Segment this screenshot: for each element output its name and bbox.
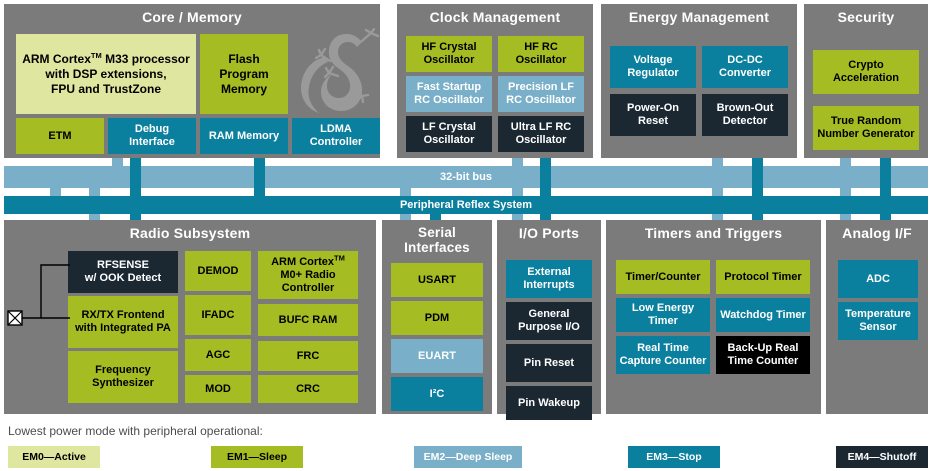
block-external-interrupts[interactable]: External Interrupts <box>506 260 592 298</box>
cpu-line1-rest: M33 processor <box>102 52 190 66</box>
block-pin-reset[interactable]: Pin Reset <box>506 344 592 382</box>
bus-stub-top-1 <box>112 158 123 166</box>
bus-peripheral-reflex-system: Peripheral Reflex System <box>4 196 928 214</box>
block-m0-line1: ARM CortexTM <box>271 256 345 269</box>
panel-title-serial-line2: Interfaces <box>382 240 492 255</box>
panel-title-radio-subsystem: Radio Subsystem <box>4 225 376 241</box>
block-adc[interactable]: ADC <box>838 260 918 298</box>
block-usart[interactable]: USART <box>391 263 483 297</box>
block-etm[interactable]: ETM <box>16 118 104 154</box>
bus-stub-top-2 <box>130 158 141 166</box>
bus-connector-v-3 <box>540 166 551 196</box>
block-bufc-ram[interactable]: BUFC RAM <box>258 304 358 336</box>
block-m0-line3: Controller <box>282 282 335 295</box>
panel-title-io-ports: I/O Ports <box>497 225 601 241</box>
block-dcdc-converter[interactable]: DC-DC Converter <box>702 46 788 88</box>
block-mod[interactable]: MOD <box>185 375 251 403</box>
block-crypto-acceleration[interactable]: Crypto Acceleration <box>813 50 919 94</box>
bus-stub-top-9 <box>880 158 891 166</box>
block-agc[interactable]: AGC <box>185 339 251 371</box>
gecko-logo-icon <box>292 28 380 118</box>
panel-core-memory: Core / Memory ARM CortexTM M33 processor… <box>4 4 380 158</box>
block-i2c[interactable]: I²C <box>391 377 483 411</box>
panel-title-security: Security <box>804 9 928 25</box>
block-ultra-lf-rc-oscillator[interactable]: Ultra LF RC Oscillator <box>498 116 584 152</box>
bus-connector-v-5 <box>880 166 891 196</box>
block-low-energy-timer[interactable]: Low Energy Timer <box>616 298 710 332</box>
block-ifadc[interactable]: IFADC <box>185 295 251 335</box>
bus-stub-mid-3 <box>400 188 411 196</box>
legend-item-em4[interactable]: EM4—Shutoff <box>836 446 928 468</box>
panel-clock-management: Clock Management HF Crystal Oscillator H… <box>397 4 593 158</box>
legend-item-em0[interactable]: EM0—Active <box>8 446 100 468</box>
block-pin-wakeup[interactable]: Pin Wakeup <box>506 386 592 420</box>
block-hf-rc-oscillator[interactable]: HF RC Oscillator <box>498 36 584 72</box>
block-timer-counter[interactable]: Timer/Counter <box>616 260 710 294</box>
cpu-line1-text: ARM Cortex <box>22 52 91 66</box>
legend-item-em1[interactable]: EM1—Sleep <box>211 446 303 468</box>
block-lf-crystal-oscillator[interactable]: LF Crystal Oscillator <box>406 116 492 152</box>
block-voltage-regulator[interactable]: Voltage Regulator <box>610 46 696 88</box>
block-protocol-timer[interactable]: Protocol Timer <box>716 260 810 294</box>
m0-line1-text: ARM Cortex <box>271 256 334 268</box>
panel-title-clock-management: Clock Management <box>397 9 593 25</box>
bus-stub-mid-4 <box>512 188 523 196</box>
block-watchdog-timer[interactable]: Watchdog Timer <box>716 298 810 332</box>
block-ram-memory[interactable]: RAM Memory <box>200 118 288 154</box>
antenna-icon <box>0 248 74 358</box>
panel-title-serial-line1: Serial <box>382 225 492 240</box>
block-power-on-reset[interactable]: Power-On Reset <box>610 94 696 136</box>
block-euart[interactable]: EUART <box>391 339 483 373</box>
legend-caption: Lowest power mode with peripheral operat… <box>8 424 263 438</box>
block-arm-cortex-m33-line1: ARM CortexTM M33 processor <box>22 52 190 67</box>
block-backup-real-time-counter[interactable]: Back-Up Real Time Counter <box>716 336 810 374</box>
bus-stub-top-6 <box>712 158 723 166</box>
panel-serial-interfaces: Serial Interfaces USART PDM EUART I²C <box>382 220 492 414</box>
block-demod[interactable]: DEMOD <box>185 251 251 291</box>
panel-security: Security Crypto Acceleration True Random… <box>804 4 928 158</box>
block-real-time-capture-counter[interactable]: Real Time Capture Counter <box>616 336 710 374</box>
cpu-trademark: TM <box>91 51 102 60</box>
bus-stub-top-8 <box>840 158 851 166</box>
panel-io-ports: I/O Ports External Interrupts General Pu… <box>497 220 601 414</box>
bus-stub-mid-5 <box>712 188 723 196</box>
block-arm-cortex-m33[interactable]: ARM CortexTM M33 processor with DSP exte… <box>16 34 196 114</box>
block-frequency-synthesizer[interactable]: Frequency Synthesizer <box>68 351 178 403</box>
block-rfsense-line1: RFSENSE <box>97 259 149 272</box>
panel-energy-management: Energy Management Voltage Regulator DC-D… <box>601 4 797 158</box>
panel-title-timers-triggers: Timers and Triggers <box>606 225 821 241</box>
panel-timers-triggers: Timers and Triggers Timer/Counter Protoc… <box>606 220 821 414</box>
block-debug-interface[interactable]: Debug Interface <box>108 118 196 154</box>
block-temperature-sensor[interactable]: Temperature Sensor <box>838 302 918 340</box>
bus-connector-v-1 <box>130 166 141 196</box>
block-arm-cortex-m0-radio-controller[interactable]: ARM CortexTM M0+ Radio Controller <box>258 251 358 299</box>
bus-connector-v-4 <box>752 166 763 196</box>
block-frc[interactable]: FRC <box>258 341 358 371</box>
block-precision-lf-rc-oscillator[interactable]: Precision LF RC Oscillator <box>498 76 584 112</box>
panel-analog-if: Analog I/F ADC Temperature Sensor <box>826 220 928 414</box>
block-arm-cortex-m33-line3: FPU and TrustZone <box>51 82 161 97</box>
block-diagram: Core / Memory ARM CortexTM M33 processor… <box>0 0 932 471</box>
bus-stub-top-5 <box>540 158 551 166</box>
block-flash-program-memory[interactable]: Flash Program Memory <box>200 34 288 114</box>
block-rx-tx-frontend[interactable]: RX/TX Frontend with Integrated PA <box>68 296 178 348</box>
block-m0-line2: M0+ Radio <box>280 269 335 282</box>
bus-stub-top-4 <box>512 158 523 166</box>
bus-32-bit-label: 32-bit bus <box>440 171 492 183</box>
block-true-random-number-generator[interactable]: True Random Number Generator <box>813 106 919 150</box>
legend-item-em3[interactable]: EM3—Stop <box>628 446 720 468</box>
block-rfsense[interactable]: RFSENSE w/ OOK Detect <box>68 251 178 293</box>
bus-stub-mid-1 <box>50 188 61 196</box>
bus-prs-label: Peripheral Reflex System <box>400 199 532 211</box>
block-fast-startup-rc-oscillator[interactable]: Fast Startup RC Oscillator <box>406 76 492 112</box>
bus-stub-mid-6 <box>840 188 851 196</box>
bus-32-bit: 32-bit bus <box>4 166 928 188</box>
bus-stub-top-3 <box>254 158 265 166</box>
legend-item-em2[interactable]: EM2—Deep Sleep <box>414 446 522 468</box>
bus-stub-top-7 <box>752 158 763 166</box>
block-crc[interactable]: CRC <box>258 375 358 403</box>
panel-title-analog-if: Analog I/F <box>826 225 928 241</box>
panel-title-energy-management: Energy Management <box>601 9 797 25</box>
block-general-purpose-io[interactable]: General Purpose I/O <box>506 302 592 340</box>
block-ldma-controller[interactable]: LDMA Controller <box>292 118 380 154</box>
panel-title-serial-interfaces: Serial Interfaces <box>382 225 492 255</box>
block-pdm[interactable]: PDM <box>391 301 483 335</box>
block-arm-cortex-m33-line2: with DSP extensions, <box>45 67 166 82</box>
panel-title-core-memory: Core / Memory <box>4 9 380 25</box>
block-brown-out-detector[interactable]: Brown-Out Detector <box>702 94 788 136</box>
m0-trademark: TM <box>334 253 345 262</box>
block-hf-crystal-oscillator[interactable]: HF Crystal Oscillator <box>406 36 492 72</box>
bus-connector-v-2 <box>254 166 265 196</box>
block-rfsense-line2: w/ OOK Detect <box>85 272 161 285</box>
bus-stub-mid-2 <box>89 188 100 196</box>
